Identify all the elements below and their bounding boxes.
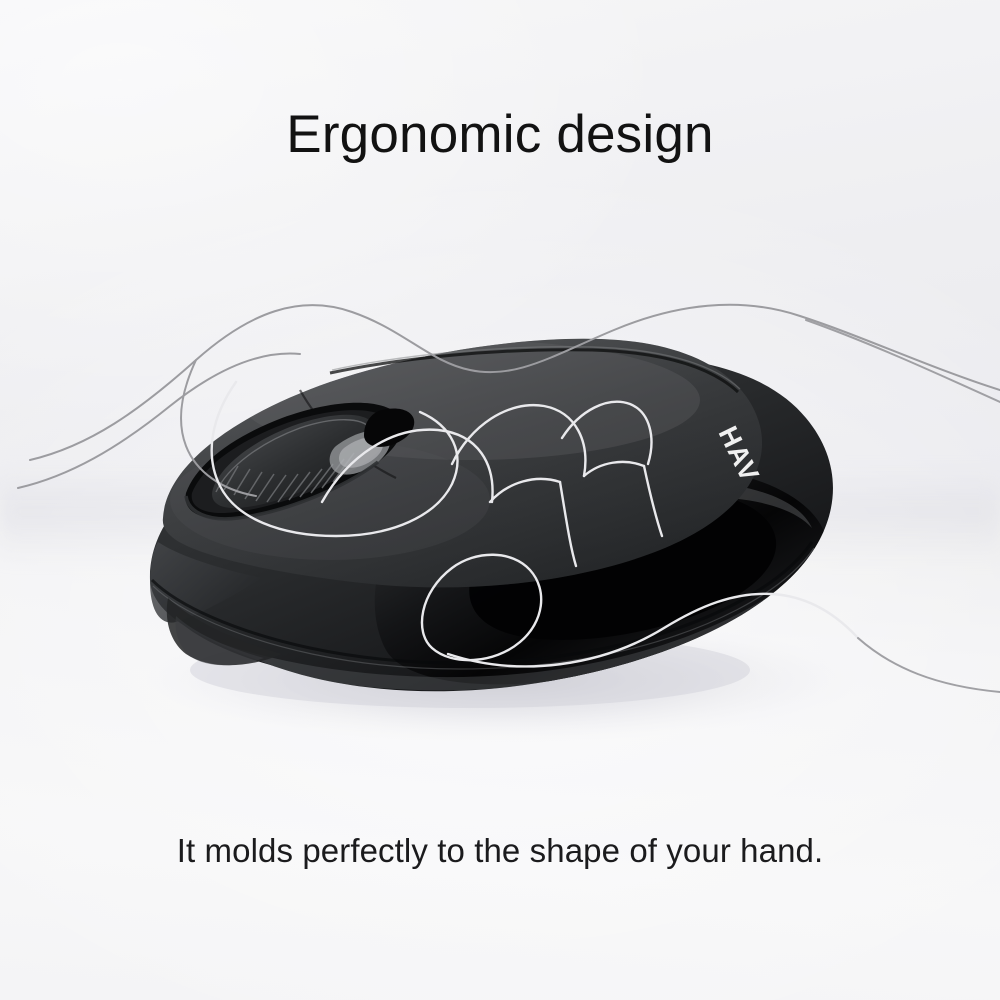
- product-photo: HAV: [0, 250, 1000, 770]
- hand-outline-trailing: [806, 320, 1000, 692]
- wrist-right-trailing: [806, 320, 1000, 402]
- palm-edge-trailing: [858, 638, 1000, 692]
- product-feature-slide: Ergonomic design: [0, 0, 1000, 1000]
- page-caption: It molds perfectly to the shape of your …: [0, 832, 1000, 870]
- page-title: Ergonomic design: [0, 104, 1000, 165]
